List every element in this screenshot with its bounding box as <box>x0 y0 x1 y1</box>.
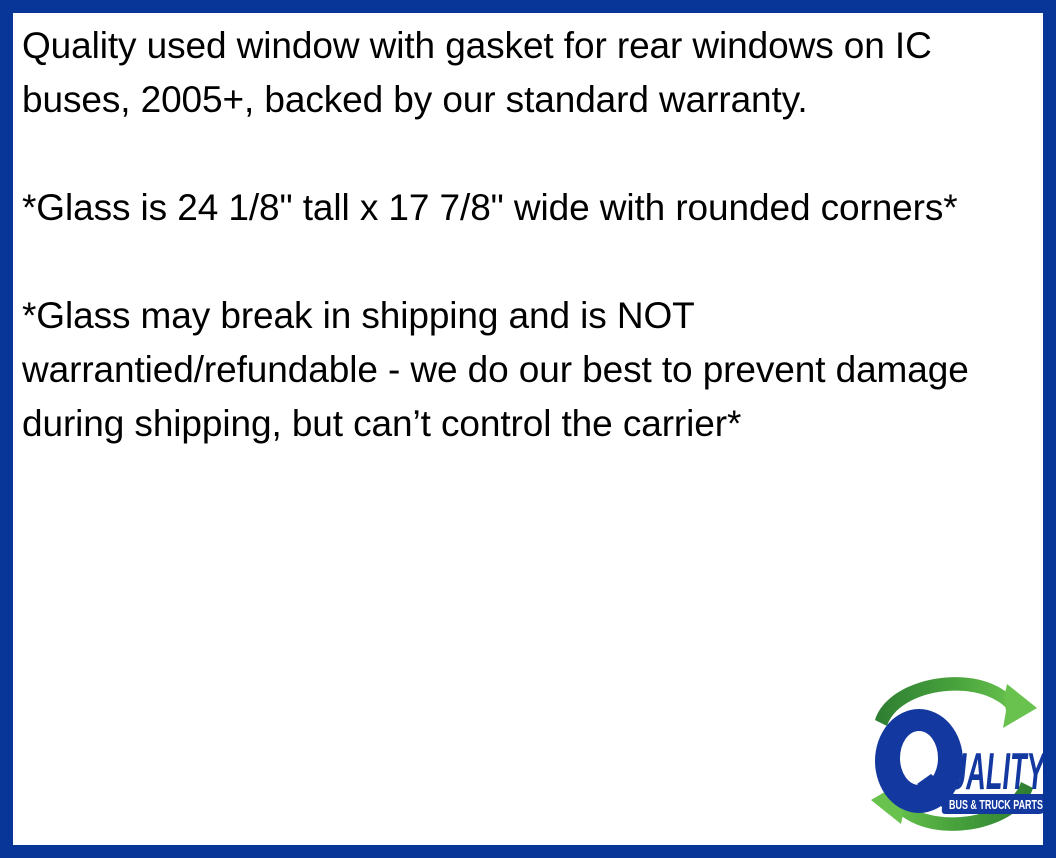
description-text-block: Quality used window with gasket for rear… <box>22 19 1029 451</box>
paragraph-description: Quality used window with gasket for rear… <box>22 19 1029 127</box>
quality-bus-and-truck-parts-logo: UALITY BUS & TRUCK PARTS <box>859 658 1049 850</box>
paragraph-dimensions: *Glass is 24 1/8" tall x 17 7/8" wide wi… <box>22 181 1029 235</box>
logo-svg: UALITY BUS & TRUCK PARTS <box>859 658 1049 850</box>
logo-tagline-banner: BUS & TRUCK PARTS <box>942 794 1048 814</box>
paragraph-shipping-disclaimer: *Glass may break in shipping and is NOT … <box>22 289 1029 451</box>
paragraph-spacer <box>22 127 1029 181</box>
product-description-card: Quality used window with gasket for rear… <box>0 0 1056 858</box>
logo-tagline-text: BUS & TRUCK PARTS <box>949 797 1043 812</box>
logo-wordmark-ualit: UALITY <box>947 742 1047 800</box>
paragraph-spacer <box>22 235 1029 289</box>
